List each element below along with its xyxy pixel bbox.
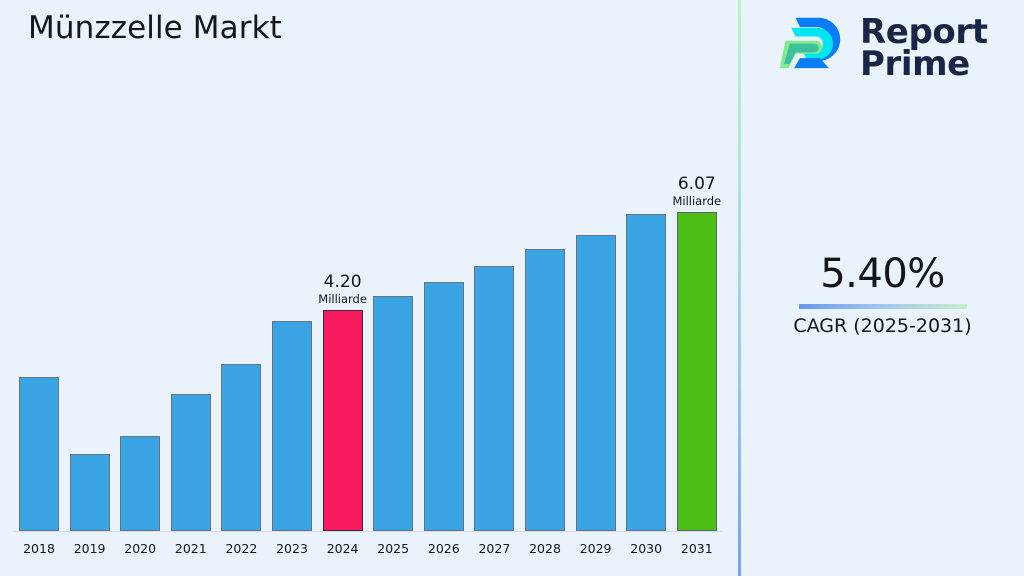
bar-2028[interactable] bbox=[525, 249, 565, 531]
bar-value-number-2031: 6.07 bbox=[672, 174, 721, 194]
bar-2021[interactable] bbox=[171, 394, 211, 531]
x-axis-line bbox=[13, 531, 722, 532]
bar-slot-2028 bbox=[525, 249, 565, 531]
bar-slot-2018 bbox=[19, 377, 59, 531]
bar-2023[interactable] bbox=[272, 321, 312, 531]
bar-2030[interactable] bbox=[626, 214, 666, 531]
x-axis-tick-2019: 2019 bbox=[70, 541, 110, 556]
side-panel: Report Prime 5.40% CAGR (2025-2031) bbox=[741, 0, 1024, 576]
bar-2027[interactable] bbox=[474, 266, 514, 531]
bar-slot-2029 bbox=[576, 235, 616, 531]
x-axis-tick-2021: 2021 bbox=[171, 541, 211, 556]
bar-slot-2019 bbox=[70, 454, 110, 531]
brand-name-line2: Prime bbox=[860, 48, 988, 80]
cagr-block: 5.40% CAGR (2025-2031) bbox=[741, 250, 1024, 339]
cagr-divider-rule bbox=[799, 304, 967, 309]
x-axis-tick-2022: 2022 bbox=[221, 541, 261, 556]
bar-value-unit-2031: Milliarde bbox=[672, 194, 721, 208]
bar-2029[interactable] bbox=[576, 235, 616, 531]
bar-slot-2023 bbox=[272, 321, 312, 531]
x-axis-tick-2028: 2028 bbox=[525, 541, 565, 556]
bar-2031[interactable] bbox=[677, 212, 717, 531]
x-axis-tick-2024: 2024 bbox=[323, 541, 363, 556]
bar-slot-2022 bbox=[221, 364, 261, 531]
bar-value-label-2031: 6.07Milliarde bbox=[672, 174, 721, 208]
bar-value-number-2024: 4.20 bbox=[318, 272, 367, 292]
bar-slot-2025 bbox=[373, 296, 413, 531]
bar-2022[interactable] bbox=[221, 364, 261, 531]
chart-panel: Münzzelle Markt 201820192020202120222023… bbox=[0, 0, 738, 576]
x-axis-tick-2031: 2031 bbox=[677, 541, 717, 556]
x-axis-tick-2027: 2027 bbox=[474, 541, 514, 556]
bar-slot-2027 bbox=[474, 266, 514, 531]
bar-2019[interactable] bbox=[70, 454, 110, 531]
bar-value-label-2024: 4.20Milliarde bbox=[318, 272, 367, 306]
brand-logo: Report Prime bbox=[774, 12, 988, 84]
x-axis-tick-2018: 2018 bbox=[19, 541, 59, 556]
bar-slot-2024: 4.20Milliarde bbox=[323, 310, 363, 531]
x-axis-tick-2030: 2030 bbox=[626, 541, 666, 556]
bar-2025[interactable] bbox=[373, 296, 413, 531]
bar-2024[interactable] bbox=[323, 310, 363, 531]
bar-2026[interactable] bbox=[424, 282, 464, 531]
bar-value-unit-2024: Milliarde bbox=[318, 292, 367, 306]
x-axis-tick-2020: 2020 bbox=[120, 541, 160, 556]
x-axis-tick-2026: 2026 bbox=[424, 541, 464, 556]
x-axis-tick-2023: 2023 bbox=[272, 541, 312, 556]
bar-slot-2021 bbox=[171, 394, 211, 531]
bar-slot-2030 bbox=[626, 214, 666, 531]
x-axis-tick-2025: 2025 bbox=[373, 541, 413, 556]
bar-2018[interactable] bbox=[19, 377, 59, 531]
brand-name: Report Prime bbox=[860, 16, 988, 81]
cagr-value: 5.40% bbox=[741, 250, 1024, 298]
bar-chart-plot: 2018201920202021202220234.20Milliarde202… bbox=[0, 0, 738, 576]
bar-slot-2020 bbox=[120, 436, 160, 531]
report-prime-r-logo-icon bbox=[774, 12, 846, 84]
bar-2020[interactable] bbox=[120, 436, 160, 531]
x-axis-tick-2029: 2029 bbox=[576, 541, 616, 556]
cagr-caption: CAGR (2025-2031) bbox=[741, 313, 1024, 339]
bar-slot-2026 bbox=[424, 282, 464, 531]
bar-slot-2031: 6.07Milliarde bbox=[677, 212, 717, 531]
